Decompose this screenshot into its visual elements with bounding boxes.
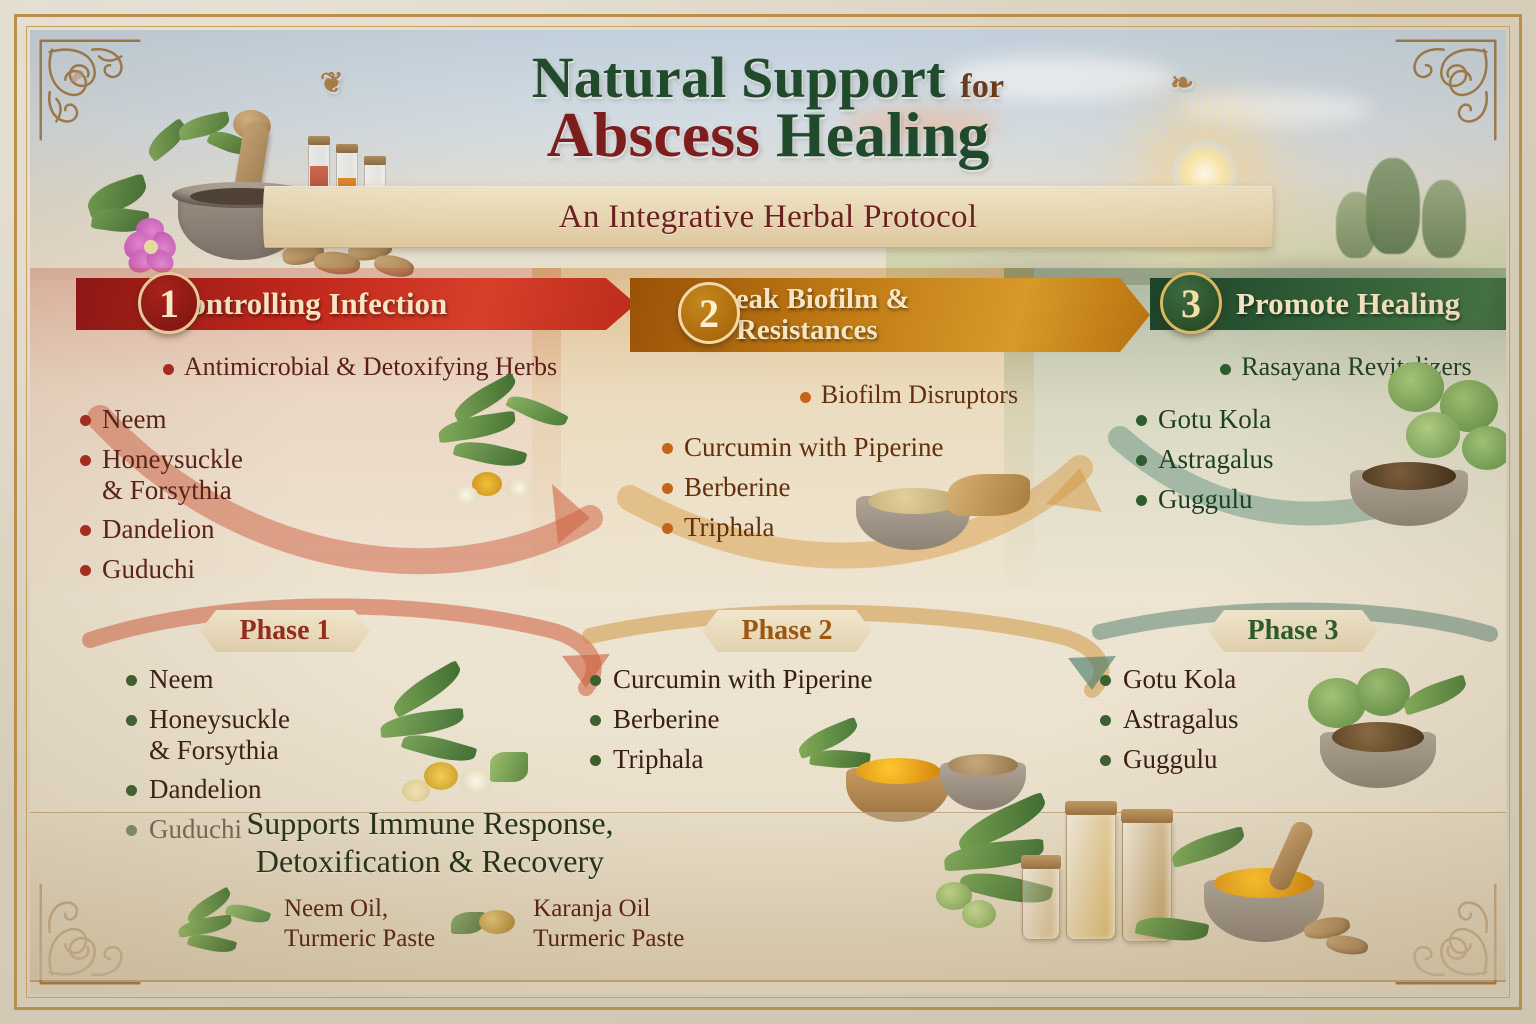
section-2-title: Break Biofilm & Resistances xyxy=(630,284,934,347)
section-3-number-badge: 3 xyxy=(1160,272,1222,334)
poster-footer: Supports Immune Response, Detoxification… xyxy=(30,794,1506,994)
flourish-ornament-icon: ❧ xyxy=(1170,70,1194,99)
phase-2-content: Curcumin with Piperine Berberine Triphal… xyxy=(590,664,1060,783)
bottle-cork xyxy=(1121,809,1173,823)
herb-name: Gotu Kola xyxy=(1158,404,1271,435)
bullet-dot-icon xyxy=(662,523,673,534)
bullet-dot-icon xyxy=(1220,364,1231,375)
bullet-dot-icon xyxy=(80,525,91,536)
bullet-dot-icon xyxy=(590,715,601,726)
bullet-dot-icon xyxy=(590,755,601,766)
title-word-healing: Healing xyxy=(776,99,989,170)
bowl-contents xyxy=(868,488,960,514)
guggulu-resin xyxy=(1362,462,1456,490)
bullet-dot-icon xyxy=(1100,715,1111,726)
footer-application-list: Neem Oil, Turmeric Paste Karanja Oil Tur… xyxy=(178,892,758,956)
title-word-abscess: Abscess xyxy=(547,99,760,170)
herb-name: Neem xyxy=(102,404,166,435)
guggulu-resin xyxy=(1332,722,1424,752)
bullet-dot-icon xyxy=(1136,455,1147,466)
herb-name: Triphala xyxy=(684,512,775,543)
turmeric-powder xyxy=(856,758,940,784)
subtitle-text: An Integrative Herbal Protocol xyxy=(559,199,978,236)
turmeric-root-icon xyxy=(1325,933,1369,957)
bullet-dot-icon xyxy=(80,565,91,576)
bullet-dot-icon xyxy=(80,415,91,426)
neem-fruit xyxy=(962,900,996,928)
bullet-dot-icon xyxy=(800,392,811,403)
infographic-poster: ❦ Natural Support for ❧ Abscess Healing … xyxy=(0,0,1536,1024)
section-2-subheading: Biofilm Disruptors xyxy=(636,380,1156,410)
herb-name: Dandelion xyxy=(102,514,214,545)
list-item: Guduchi xyxy=(80,554,640,585)
footer-item-2: Karanja Oil Turmeric Paste xyxy=(533,894,684,954)
phase-2-tab[interactable]: Phase 2 xyxy=(702,610,872,652)
bullet-dot-icon xyxy=(662,483,673,494)
bullet-dot-icon xyxy=(1100,675,1111,686)
herb-name: Berberine xyxy=(613,704,719,735)
phase-3-tab[interactable]: Phase 3 xyxy=(1208,610,1378,652)
section-2-subheading-text: Biofilm Disruptors xyxy=(821,380,1018,410)
herb-name: Guduchi xyxy=(102,554,195,585)
section-3-content: Rasayana Revitalizers Gotu Kola Astragal… xyxy=(1136,352,1506,523)
bullet-dot-icon xyxy=(80,455,91,466)
herb-name: Berberine xyxy=(684,472,790,503)
leaf-shape xyxy=(1168,826,1247,868)
section-1-content: Antimicrobial & Detoxifying Herbs Neem H… xyxy=(80,352,640,594)
protocol-sections: Controlling Infection 1 Break Biofilm & … xyxy=(30,268,1506,588)
bullet-dot-icon xyxy=(126,675,137,686)
list-item: Curcumin with Piperine xyxy=(590,664,1060,695)
bottle-cork xyxy=(1021,855,1061,869)
page-title-line-2: Abscess Healing xyxy=(378,103,1158,167)
herb-name: Curcumin with Piperine xyxy=(613,664,872,695)
title-block: ❦ Natural Support for ❧ Abscess Healing xyxy=(378,48,1158,167)
section-1-number-badge: 1 xyxy=(138,272,200,334)
bullet-dot-icon xyxy=(1136,495,1147,506)
poster-header: ❦ Natural Support for ❧ Abscess Healing … xyxy=(30,36,1506,276)
turmeric-powder xyxy=(1214,868,1314,898)
herb-name: Astragalus xyxy=(1123,704,1238,735)
herb-name: Honeysuckle & Forsythia xyxy=(102,444,243,506)
herb-name: Triphala xyxy=(613,744,704,775)
oil-bottles-illustration xyxy=(936,770,1366,980)
herb-name: Gotu Kola xyxy=(1123,664,1236,695)
bottle-cork xyxy=(1065,801,1117,815)
bullet-dot-icon xyxy=(662,443,673,454)
neem-sprig-illustration xyxy=(410,368,600,538)
herb-name: Neem xyxy=(149,664,213,695)
bullet-dot-icon xyxy=(163,364,174,375)
footer-item-1: Neem Oil, Turmeric Paste xyxy=(284,894,435,954)
footer-headline: Supports Immune Response, Detoxification… xyxy=(150,804,710,881)
karanja-seed-icon xyxy=(449,904,519,944)
herb-name: Astragalus xyxy=(1158,444,1273,475)
subtitle-ribbon: An Integrative Herbal Protocol xyxy=(263,186,1273,248)
section-1-title: Controlling Infection xyxy=(76,287,447,320)
herb-name: Honeysuckle & Forsythia xyxy=(149,704,290,766)
footer-headline-line-1: Supports Immune Response, xyxy=(150,804,710,842)
oil-bottle-icon xyxy=(1066,812,1116,940)
poster-canvas: ❦ Natural Support for ❧ Abscess Healing … xyxy=(30,30,1506,994)
herb-bowl-illustration xyxy=(836,452,1046,562)
bullet-dot-icon xyxy=(590,675,601,686)
bullet-dot-icon xyxy=(1136,415,1147,426)
gotu-kola-illustration xyxy=(1344,362,1506,552)
oil-bottle-icon xyxy=(1022,866,1060,940)
phase-3-content: Gotu Kola Astragalus Guggulu xyxy=(1100,664,1506,783)
phase-1-tab[interactable]: Phase 1 xyxy=(200,610,370,652)
section-2-number-badge: 2 xyxy=(678,282,740,344)
herb-name: Guggulu xyxy=(1158,484,1253,515)
neem-leaf-sprig-icon xyxy=(178,892,270,956)
footer-headline-line-2: Detoxification & Recovery xyxy=(150,842,710,880)
flourish-ornament-icon: ❦ xyxy=(320,70,344,99)
bullet-dot-icon xyxy=(1100,755,1111,766)
section-2-content: Biofilm Disruptors Curcumin with Piperin… xyxy=(636,352,1156,551)
bullet-dot-icon xyxy=(126,715,137,726)
dried-root-pile xyxy=(948,474,1030,516)
